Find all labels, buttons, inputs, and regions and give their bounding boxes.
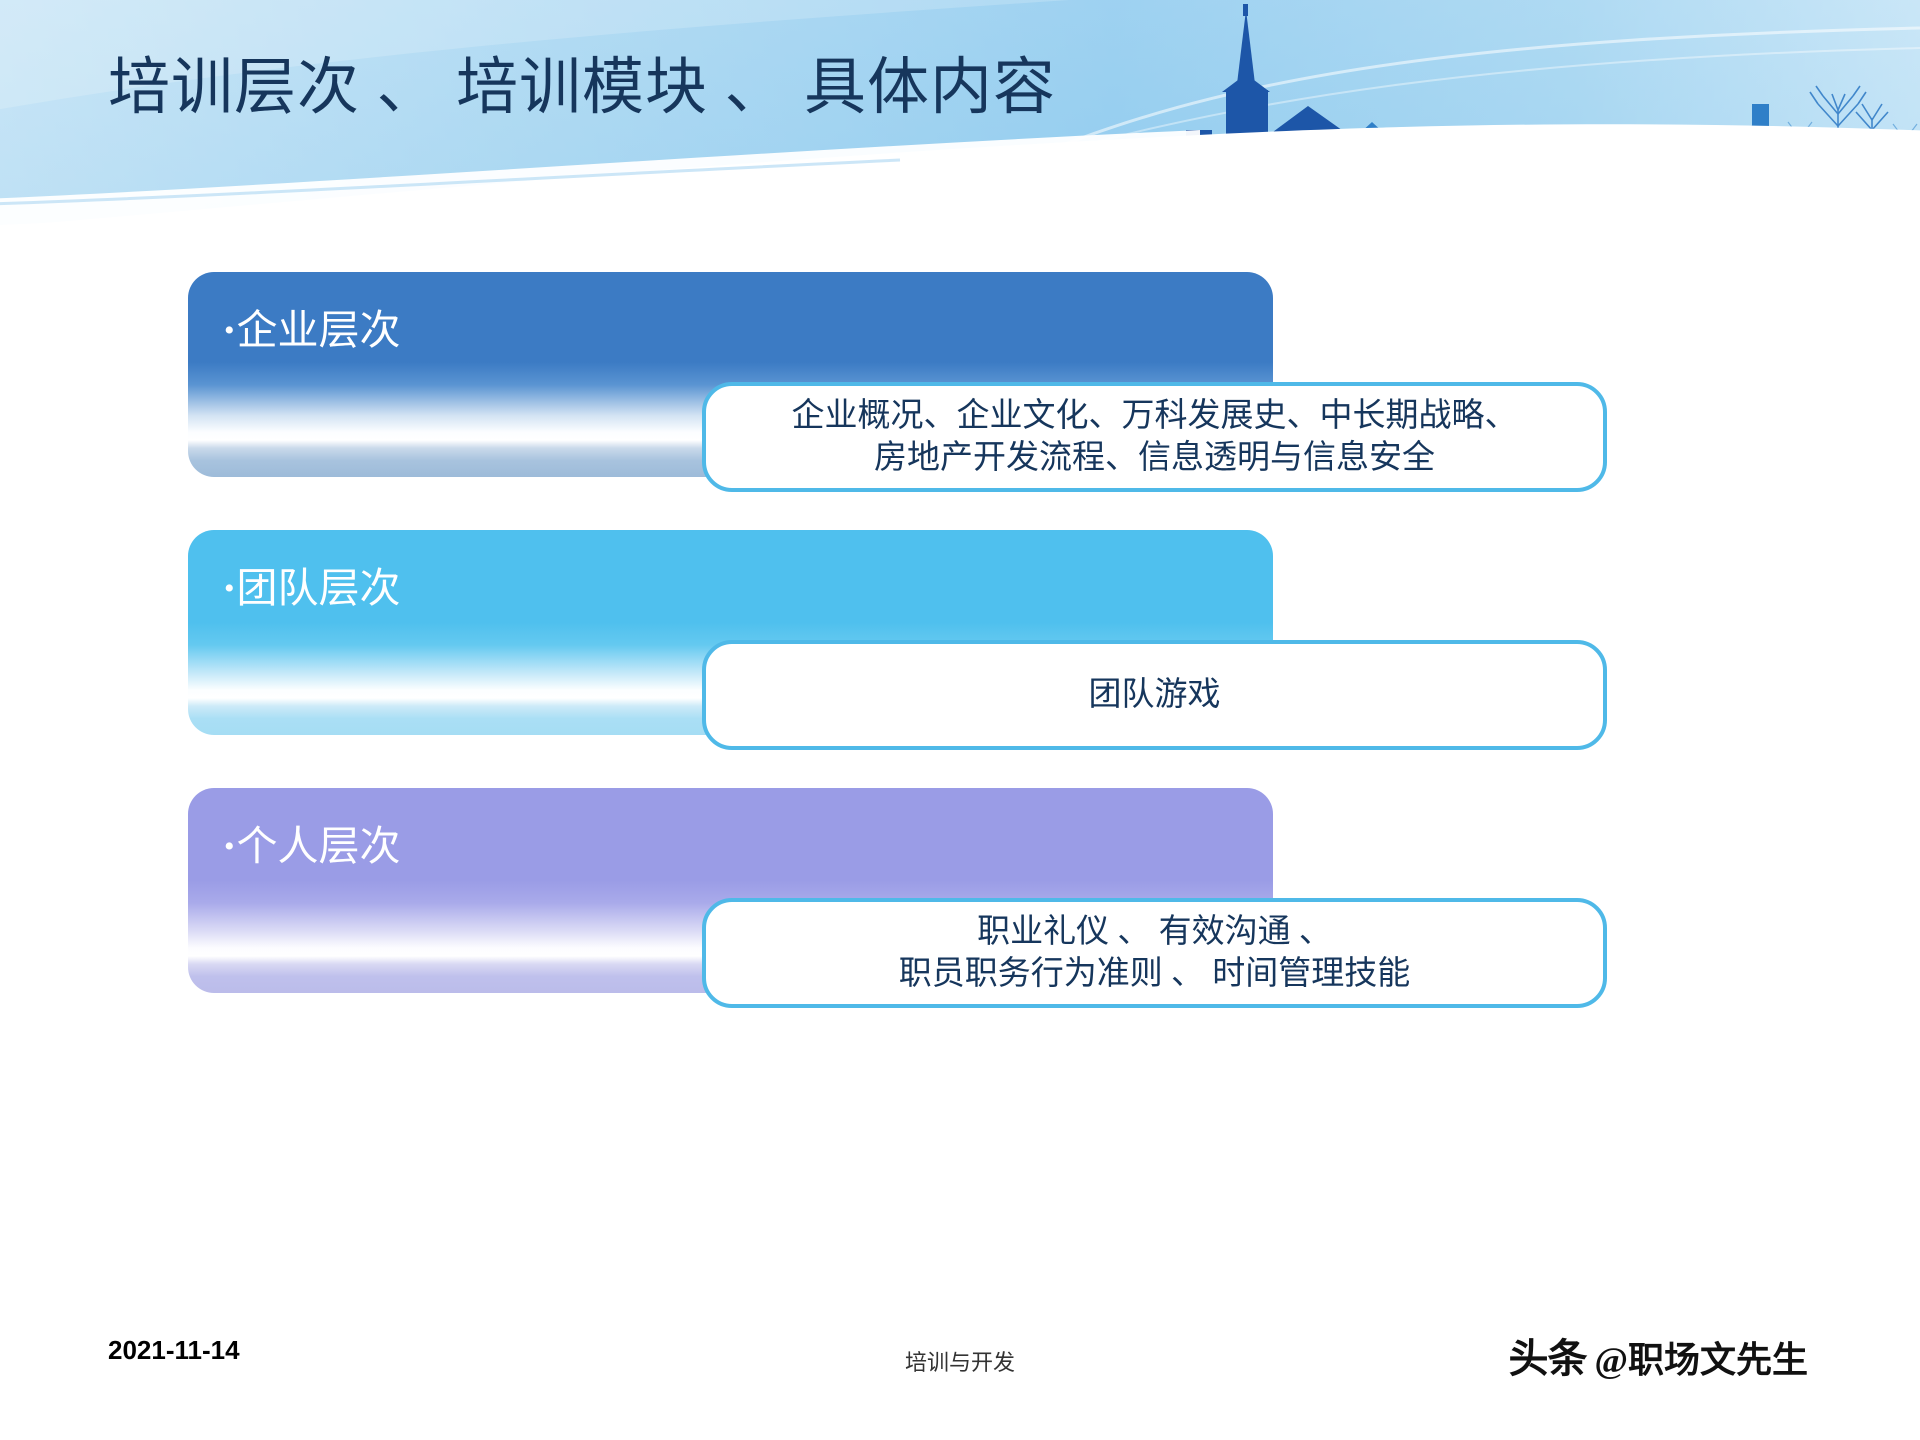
content-box-corporate: 企业概况、企业文化、万科发展史、中长期战略、 房地产开发流程、信息透明与信息安全 — [702, 382, 1607, 492]
content-box-team: 团队游戏 — [702, 640, 1607, 750]
level-card-team: •团队层次 团队游戏 — [188, 530, 1273, 735]
page-title: 培训层次 、 培训模块 、 具体内容 — [108, 56, 1056, 121]
level-label-text: 团队层次 — [237, 565, 401, 611]
level-card-individual: •个人层次 职业礼仪 、 有效沟通 、 职员职务行为准则 、 时间管理技能 — [188, 788, 1273, 993]
level-card-corporate: •企业层次 企业概况、企业文化、万科发展史、中长期战略、 房地产开发流程、信息透… — [188, 272, 1273, 477]
bullet-icon: • — [224, 572, 235, 605]
content-box-individual: 职业礼仪 、 有效沟通 、 职员职务行为准则 、 时间管理技能 — [702, 898, 1607, 1008]
watermark: 头条 @职场文先生 — [1509, 1326, 1809, 1384]
bullet-icon: • — [224, 830, 235, 863]
level-label-text: 个人层次 — [237, 823, 401, 869]
content-text-corporate: 企业概况、企业文化、万科发展史、中长期战略、 房地产开发流程、信息透明与信息安全 — [774, 395, 1536, 479]
content-text-individual: 职业礼仪 、 有效沟通 、 职员职务行为准则 、 时间管理技能 — [881, 911, 1429, 995]
bullet-icon: • — [224, 314, 235, 347]
header-banner: 培训层次 、 培训模块 、 具体内容 — [0, 0, 1920, 230]
content-text-team: 团队游戏 — [1071, 674, 1239, 716]
watermark-brand: 头条 — [1509, 1326, 1587, 1384]
watermark-handle: @职场文先生 — [1595, 1331, 1809, 1383]
level-label-individual: •个人层次 — [224, 812, 401, 872]
level-label-text: 企业层次 — [237, 307, 401, 353]
level-label-corporate: •企业层次 — [224, 296, 401, 356]
level-label-team: •团队层次 — [224, 554, 401, 614]
